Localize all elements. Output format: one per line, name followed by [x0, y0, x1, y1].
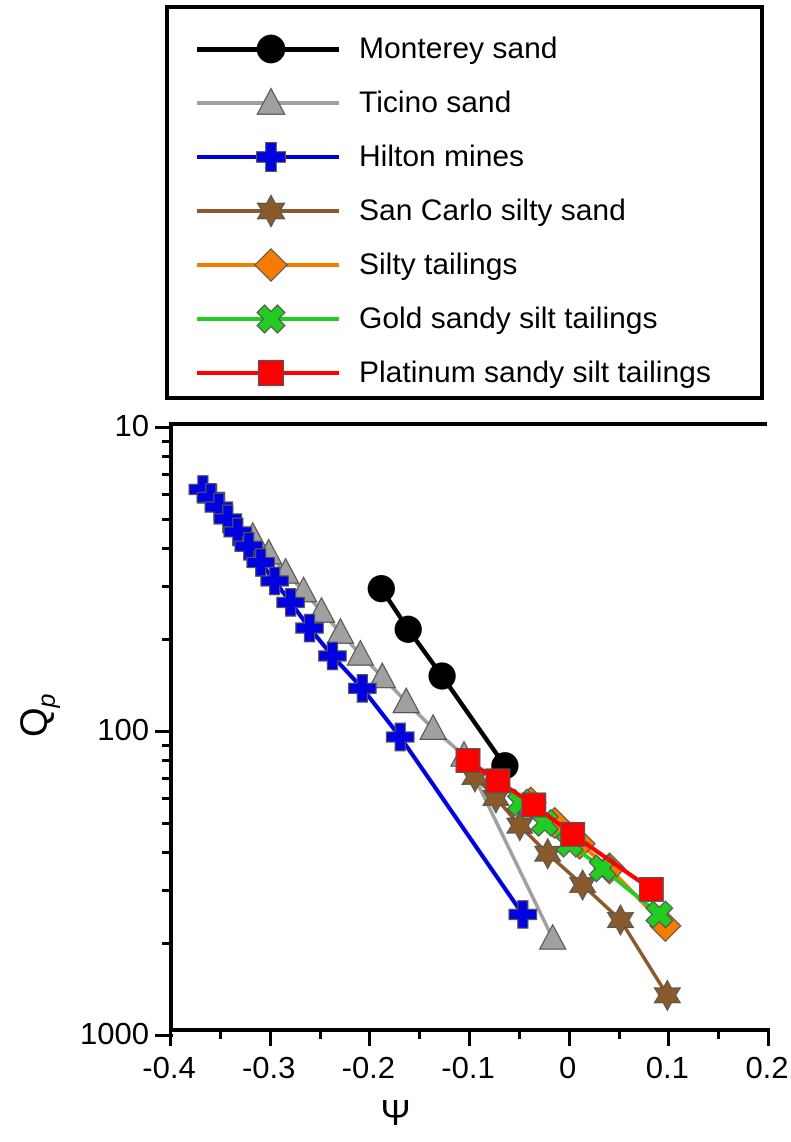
y-tick-minor	[162, 547, 173, 550]
x-tick-label: 0	[559, 1050, 576, 1086]
legend-item[interactable]: San Carlo silty sand	[169, 183, 760, 239]
y-axis-title-text: Q	[14, 707, 56, 737]
x-tick-label: -0.3	[242, 1050, 295, 1086]
square-marker-icon	[251, 353, 291, 393]
x-tick-label: -0.1	[441, 1050, 494, 1086]
legend-item[interactable]: Platinum sandy silt tailings	[169, 345, 760, 401]
y-tick-minor	[162, 744, 173, 747]
x-tick-label: -0.2	[342, 1050, 395, 1086]
y-tick-label: 10	[115, 408, 149, 444]
y-tick-label: 100	[97, 712, 149, 748]
legend-label: Ticino sand	[359, 88, 511, 118]
x-tick-minor	[418, 1028, 421, 1039]
x-tick-major	[169, 1028, 172, 1046]
x-tick-minor	[518, 1028, 521, 1039]
legend-swatch	[169, 345, 359, 401]
x-tick-major	[468, 1028, 471, 1046]
star6-marker-icon	[251, 191, 291, 231]
x-tick-minor	[219, 1028, 222, 1039]
triangle-marker-icon	[251, 83, 291, 123]
legend-swatch	[169, 21, 359, 77]
y-tick-minor	[162, 473, 173, 476]
diamond-marker-icon	[251, 245, 291, 285]
y-axis-title: Qp	[8, 660, 68, 770]
y-tick-label: 1000	[80, 1016, 149, 1052]
y-tick-minor	[162, 942, 173, 945]
y-tick-minor	[162, 493, 173, 496]
x-tick-label: -0.4	[142, 1050, 195, 1086]
legend-label: Platinum sandy silt tailings	[359, 358, 711, 388]
y-tick-minor	[162, 759, 173, 762]
legend-label: Silty tailings	[359, 250, 517, 280]
legend-item[interactable]: Gold sandy silt tailings	[169, 291, 760, 347]
figure-root: Monterey sandTicino sandHilton minesSan …	[0, 0, 791, 1142]
x-tick-label: 0.2	[745, 1050, 788, 1086]
legend-label: Monterey sand	[359, 34, 557, 64]
x-tick-major	[368, 1028, 371, 1046]
y-tick-major	[155, 426, 173, 429]
x-tick-minor	[767, 1028, 770, 1039]
plot-area: 100010010	[169, 422, 767, 1030]
y-tick-minor	[162, 440, 173, 443]
legend-item[interactable]: Silty tailings	[169, 237, 760, 293]
x-tick-minor	[618, 1028, 621, 1039]
y-tick-minor	[162, 797, 173, 800]
x-axis-line: -0.4-0.3-0.2-0.100.10.2	[169, 1028, 767, 1032]
y-axis-title-subscript: p	[33, 693, 61, 707]
legend-swatch	[169, 183, 359, 239]
legend-label: Gold sandy silt tailings	[359, 304, 657, 334]
y-tick-minor	[162, 585, 173, 588]
y-tick-minor	[162, 822, 173, 825]
legend-swatch	[169, 291, 359, 347]
x-tick-major	[568, 1028, 571, 1046]
legend-item[interactable]: Monterey sand	[169, 21, 760, 77]
legend-item[interactable]: Hilton mines	[169, 129, 760, 185]
y-tick-minor	[162, 455, 173, 458]
chart-legend: Monterey sandTicino sandHilton minesSan …	[165, 5, 764, 400]
y-tick-minor	[162, 777, 173, 780]
legend-swatch	[169, 129, 359, 185]
cross-marker-icon	[251, 299, 291, 339]
x-tick-label: 0.1	[646, 1050, 689, 1086]
y-tick-minor	[162, 851, 173, 854]
legend-item[interactable]: Ticino sand	[169, 75, 760, 131]
legend-label: San Carlo silty sand	[359, 196, 626, 226]
circle-marker-icon	[251, 29, 291, 69]
plus-marker-icon	[251, 137, 291, 177]
x-tick-minor	[667, 1028, 670, 1039]
x-axis-title: Ψ	[0, 1092, 791, 1134]
x-tick-major	[269, 1028, 272, 1046]
y-tick-minor	[162, 638, 173, 641]
legend-swatch	[169, 237, 359, 293]
legend-label: Hilton mines	[359, 142, 524, 172]
y-tick-major	[155, 730, 173, 733]
y-tick-minor	[162, 518, 173, 521]
y-tick-minor	[162, 889, 173, 892]
x-tick-minor	[319, 1028, 322, 1039]
x-tick-minor	[717, 1028, 720, 1039]
legend-swatch	[169, 75, 359, 131]
